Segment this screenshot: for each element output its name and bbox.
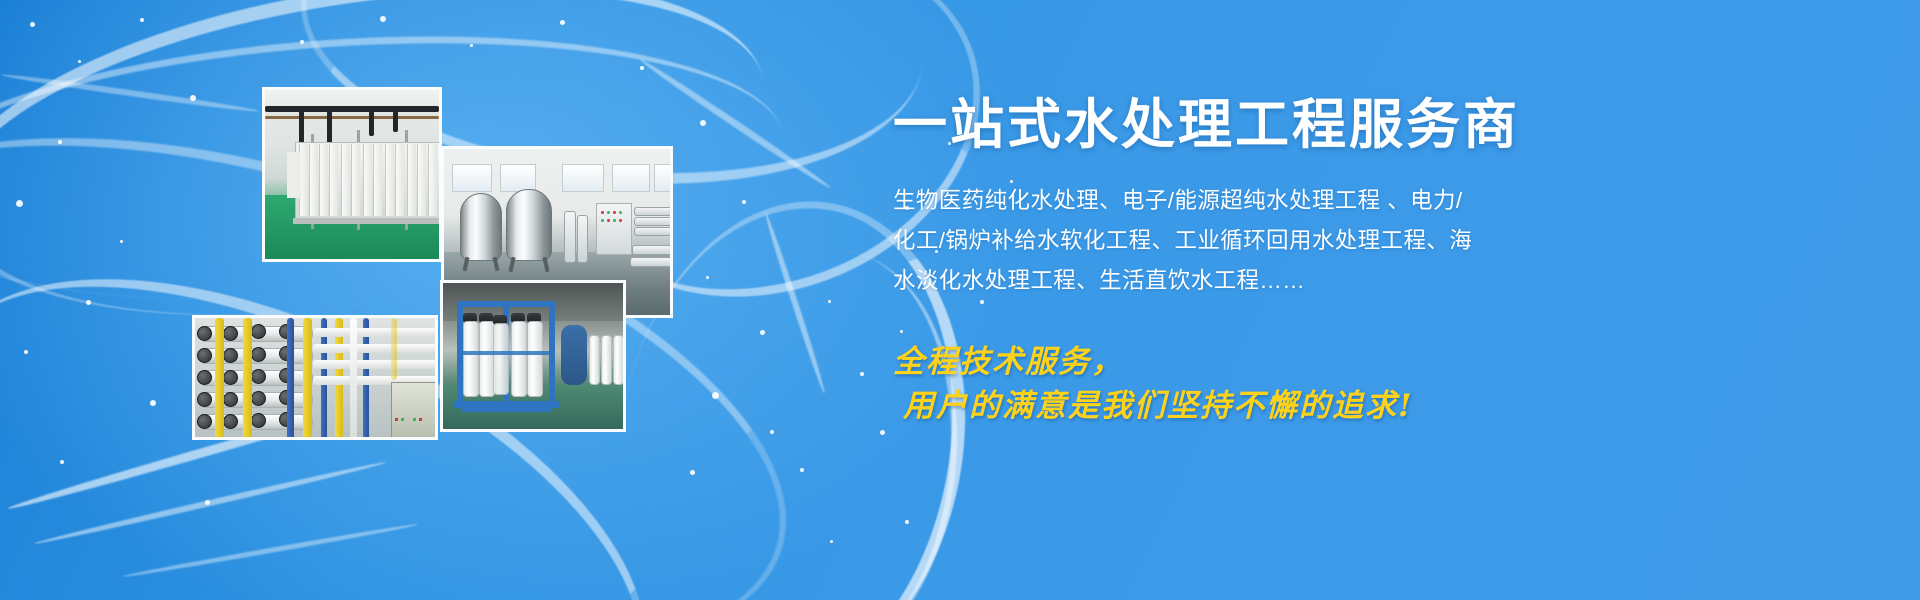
water-streak-icon (763, 212, 827, 395)
equipment-photo-collage (0, 0, 700, 600)
slogan-block: 全程技术服务， 用户的满意是我们坚持不懈的追求! (893, 340, 1893, 430)
slogan-line-1: 全程技术服务， (893, 340, 1893, 385)
photo-ultrafiltration-membrane-skid-hall (262, 87, 442, 262)
water-treatment-banner: 一站式水处理工程服务商 生物医药纯化水处理、电子/能源超纯水处理工程 、电力/化… (0, 0, 1920, 600)
photo-uf-skid-blue-frame (440, 280, 626, 432)
page-title: 一站式水处理工程服务商 (893, 96, 1893, 155)
service-description: 生物医药纯化水处理、电子/能源超纯水处理工程 、电力/化工/锅炉补给水软化工程、… (893, 181, 1473, 301)
banner-copy-block: 一站式水处理工程服务商 生物医药纯化水处理、电子/能源超纯水处理工程 、电力/化… (893, 96, 1893, 429)
photo-reverse-osmosis-membrane-vessels (192, 315, 438, 440)
slogan-line-2: 用户的满意是我们坚持不懈的追求! (903, 384, 1893, 429)
